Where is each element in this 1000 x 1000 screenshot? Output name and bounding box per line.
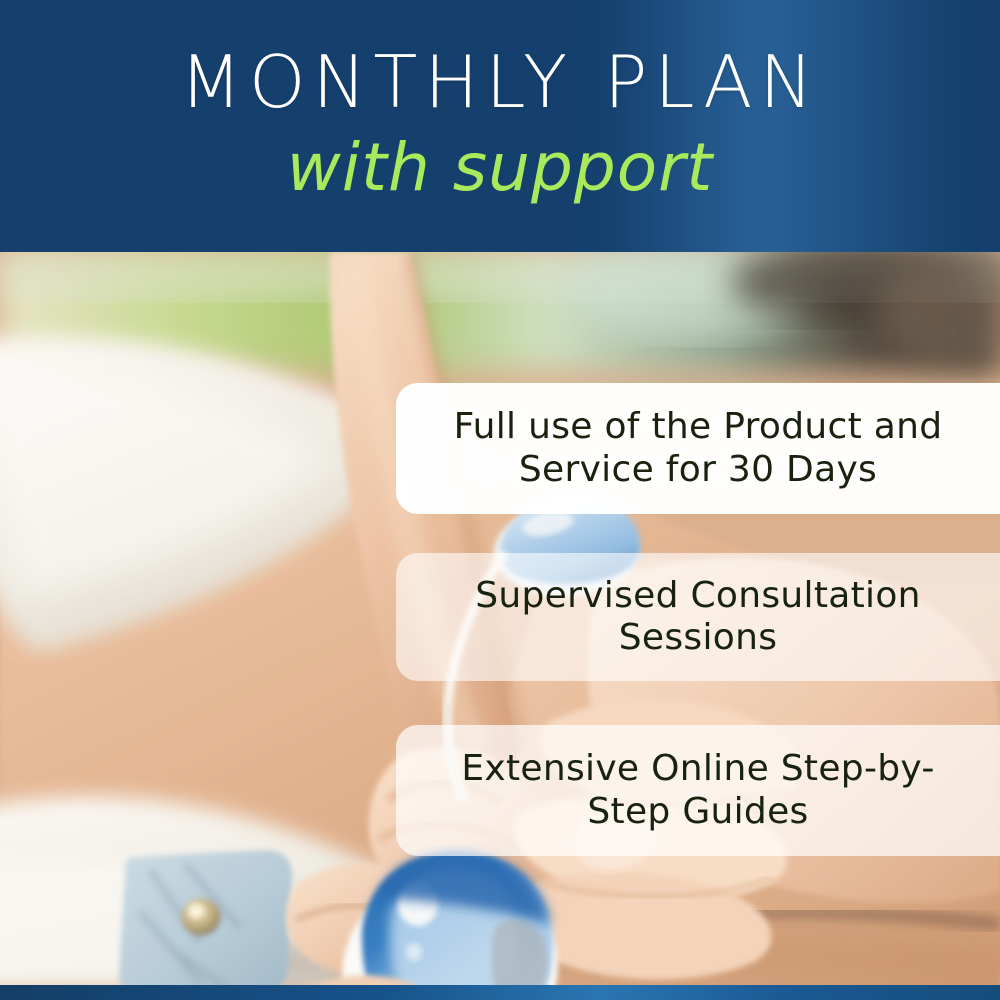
header-sheen-decoration — [600, 0, 960, 252]
feature-text-3: Extensive Online Step-by-Step Guides — [422, 748, 974, 833]
feature-box-2: Supervised Consultation Sessions — [396, 553, 1000, 681]
feature-text-2: Supervised Consultation Sessions — [422, 575, 974, 660]
footer-bar — [0, 985, 1000, 1000]
feature-text-1: Full use of the Product and Service for … — [422, 406, 974, 491]
feature-box-1: Full use of the Product and Service for … — [396, 383, 1000, 514]
promo-poster: MONTHLY PLAN with support — [0, 0, 1000, 1000]
page-title: MONTHLY PLAN — [0, 46, 1000, 118]
footer-bar-gradient — [0, 985, 1000, 1000]
feature-box-3: Extensive Online Step-by-Step Guides — [396, 725, 1000, 856]
page-subtitle: with support — [0, 135, 1000, 201]
header-banner: MONTHLY PLAN with support — [0, 0, 1000, 252]
